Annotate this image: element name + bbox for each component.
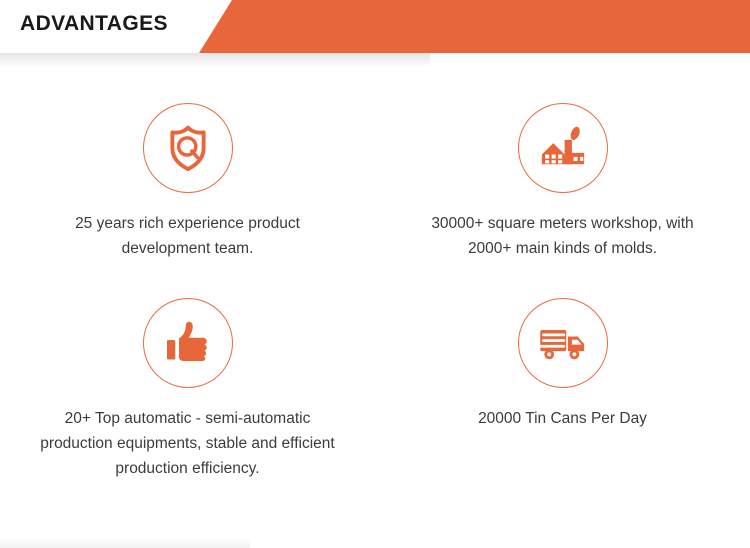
delivery-truck-icon xyxy=(518,298,608,388)
shield-quality-icon xyxy=(143,103,233,193)
advantage-text: 25 years rich experience product develop… xyxy=(38,211,338,261)
advantage-card-3: 20+ Top automatic - semi-automatic produ… xyxy=(0,298,375,481)
advantage-text: 20000 Tin Cans Per Day xyxy=(413,406,713,431)
advantage-card-4: 20000 Tin Cans Per Day xyxy=(375,298,750,431)
advantage-card-1: 25 years rich experience product develop… xyxy=(0,103,375,261)
advantage-card-2: 30000+ square meters workshop, with 2000… xyxy=(375,103,750,261)
section-header: ADVANTAGES xyxy=(0,0,750,53)
thumbs-up-icon xyxy=(143,298,233,388)
advantage-text: 20+ Top automatic - semi-automatic produ… xyxy=(38,406,338,481)
advantage-text: 30000+ square meters workshop, with 2000… xyxy=(408,211,718,261)
factory-icon xyxy=(518,103,608,193)
page-title: ADVANTAGES xyxy=(20,12,168,36)
advantages-grid: 25 years rich experience product develop… xyxy=(0,53,750,548)
